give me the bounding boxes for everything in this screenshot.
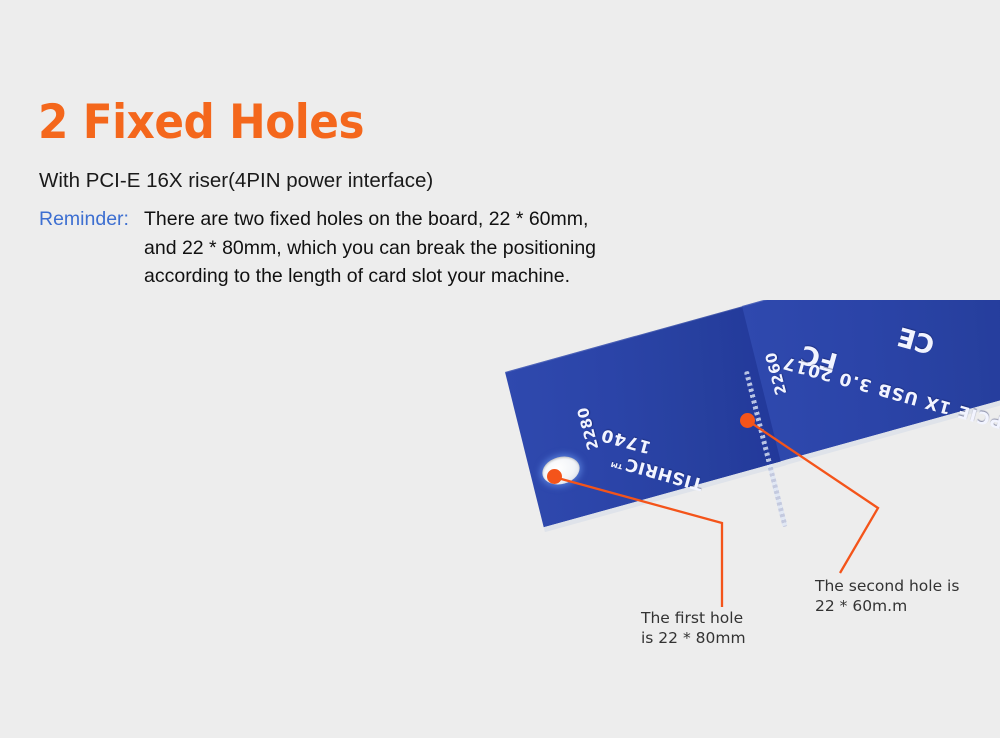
infographic-page: 2 Fixed Holes With PCI-E 16X riser(4PIN … (0, 0, 1000, 741)
callout-second-hole: The second hole is 22 * 60m.m (815, 576, 959, 616)
reminder-line-1: There are two fixed holes on the board, … (144, 205, 596, 234)
subtitle: With PCI-E 16X riser(4PIN power interfac… (39, 168, 433, 194)
callout-first-line-1: The first hole (641, 608, 746, 628)
reminder-line-3: according to the length of card slot you… (144, 262, 596, 291)
callout-second-line-1: The second hole is (815, 576, 959, 596)
callout-first-hole: The first hole is 22 * 80mm (641, 608, 746, 648)
reminder-label: Reminder: (39, 205, 129, 233)
callout-first-line-2: is 22 * 80mm (641, 628, 746, 648)
product-photo (0, 300, 1000, 620)
reminder-line-2: and 22 * 80mm, which you can break the p… (144, 234, 596, 263)
callout-anchor-dot-first (547, 469, 562, 484)
reminder-text: There are two fixed holes on the board, … (144, 205, 596, 291)
page-title: 2 Fixed Holes (38, 96, 364, 150)
callout-anchor-dot-second (740, 413, 755, 428)
callout-second-line-2: 22 * 60m.m (815, 596, 959, 616)
